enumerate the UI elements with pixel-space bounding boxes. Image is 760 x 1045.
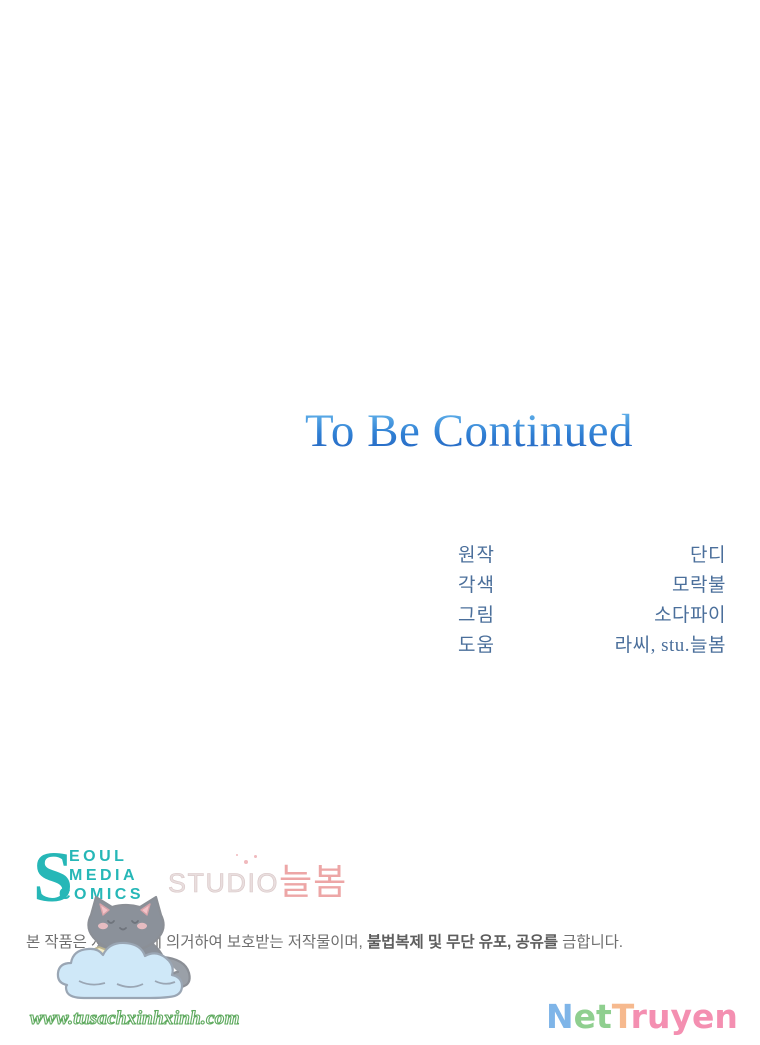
nettruyen-logo-part-1: N <box>546 997 574 1036</box>
site-url-watermark: www.tusachxinhxinh.com <box>30 1008 240 1030</box>
sparkle-icon <box>236 854 238 856</box>
credits-block: 원작 단디 각색 모락불 그림 소다파이 도움 라씨, stu.늘봄 <box>458 541 726 661</box>
logo-line-2: MEDIA <box>69 866 144 885</box>
nettruyen-logo-part-4: ruyen <box>631 997 738 1036</box>
credit-name: 단디 <box>690 541 726 571</box>
legal-text-before: 본 작품은 저작권법에 의거하여 보호받는 저작물이며, <box>26 934 367 951</box>
credit-role: 그림 <box>458 601 495 631</box>
copyright-notice: 본 작품은 저작권법에 의거하여 보호받는 저작물이며, 불법복제 및 무단 유… <box>26 930 623 952</box>
studio-name-hangul: 늘봄 <box>279 864 347 902</box>
credit-row: 각색 모락불 <box>458 571 726 601</box>
studio-wordmark: STUDIO <box>168 870 279 902</box>
credit-role: 원작 <box>458 541 495 571</box>
sparkle-icon <box>254 855 257 858</box>
logo-wordmark: EOUL MEDIA COMICS <box>69 847 144 904</box>
credit-row: 원작 단디 <box>458 541 726 571</box>
comic-end-page: To Be Continued 원작 단디 각색 모락불 그림 소다파이 도움 … <box>0 0 760 1045</box>
sparkle-icon <box>244 860 248 864</box>
to-be-continued-headline: To Be Continued <box>305 404 735 458</box>
seoul-media-comics-logo: S EOUL MEDIA COMICS <box>33 843 158 905</box>
credit-row: 그림 소다파이 <box>458 601 726 631</box>
legal-text-bold: 불법복제 및 무단 유포, 공유를 <box>367 934 558 951</box>
credit-role: 도움 <box>458 631 495 661</box>
studio-word-text: STUDIO <box>168 868 279 898</box>
credit-role: 각색 <box>458 571 495 601</box>
nettruyen-logo-part-2: et <box>574 997 612 1036</box>
logo-line-3: COMICS <box>59 885 144 904</box>
nettruyen-logo: NetTruyen <box>546 1000 738 1033</box>
credit-name: 소다파이 <box>654 601 726 631</box>
legal-text-after: 금합니다. <box>558 934 623 951</box>
credit-row: 도움 라씨, stu.늘봄 <box>458 631 726 661</box>
studio-neulbom-logo: STUDIO 늘봄 <box>168 850 347 902</box>
nettruyen-logo-part-3: T <box>612 997 631 1036</box>
credit-name: 모락불 <box>672 571 726 601</box>
credit-name: 라씨, stu.늘봄 <box>615 631 726 661</box>
logo-line-1: EOUL <box>69 847 144 866</box>
